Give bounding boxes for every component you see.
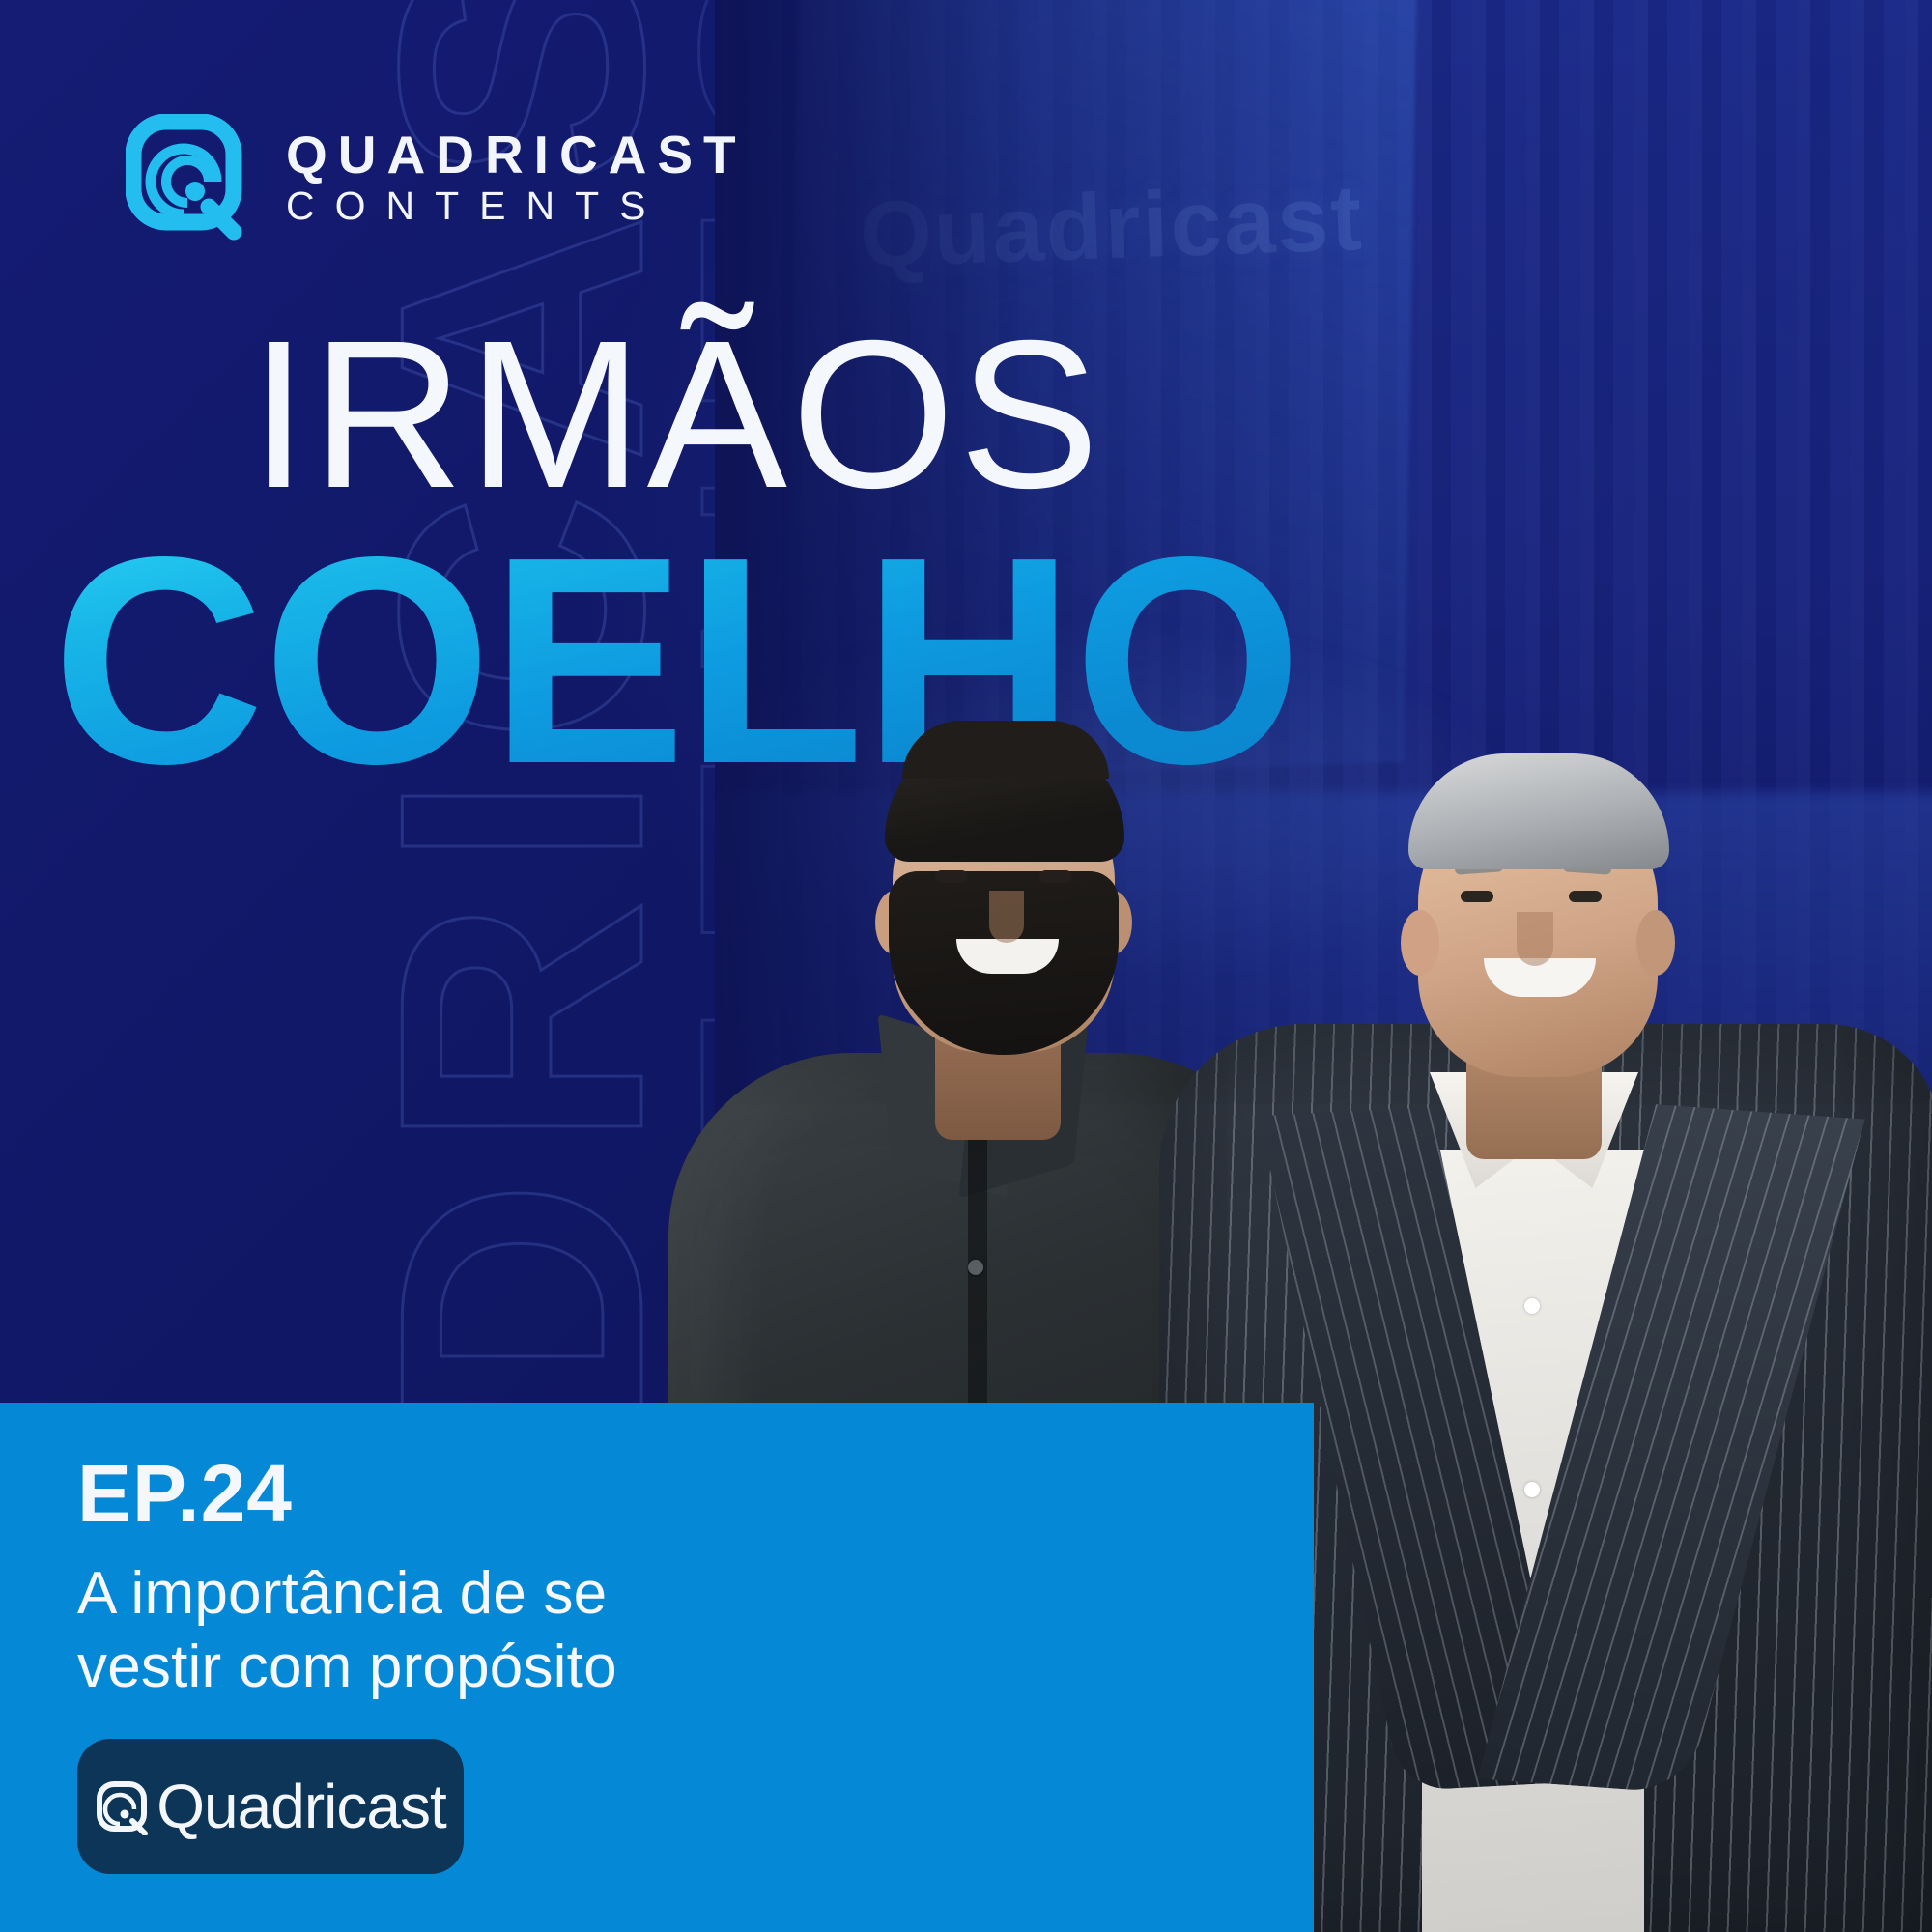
- quadricast-badge[interactable]: Quadricast: [77, 1739, 464, 1874]
- nose: [1517, 912, 1553, 966]
- brand-text: QUADRICAST CONTENTS: [286, 124, 747, 231]
- brand-sub: CONTENTS: [286, 182, 747, 231]
- eye-right: [1039, 870, 1072, 883]
- brand-name: QUADRICAST: [286, 128, 747, 182]
- badge-wordmark: Quadricast: [95, 1771, 445, 1842]
- quadricast-q-mark-icon: [126, 114, 253, 241]
- episode-number: EP.24: [77, 1453, 293, 1534]
- hair: [885, 736, 1124, 862]
- eye-left: [1461, 891, 1493, 902]
- badge-label: Quadricast: [156, 1771, 445, 1842]
- ear-right: [1636, 910, 1675, 976]
- hair: [1408, 753, 1669, 869]
- quadricast-mini-mark-icon: [95, 1778, 151, 1834]
- shirt-button: [1524, 1482, 1540, 1497]
- show-title: IRMÃOS COELHO: [0, 319, 1352, 793]
- episode-cover: QUADRICAST CONTENTS QUADRICAST Quadricas…: [0, 0, 1932, 1932]
- shirt-button: [1524, 1298, 1540, 1314]
- episode-info-band: EP.24 A importância de se vestir com pro…: [0, 1403, 1314, 1932]
- ear-left: [1401, 910, 1439, 976]
- shirt-button: [968, 1260, 983, 1275]
- eye-left: [935, 870, 968, 883]
- eye-right: [1569, 891, 1602, 902]
- title-line-1: IRMÃOS: [0, 319, 1352, 513]
- brand-header: QUADRICAST CONTENTS: [126, 114, 747, 241]
- nose: [989, 891, 1024, 943]
- episode-title: A importância de se vestir com propósito: [77, 1557, 696, 1703]
